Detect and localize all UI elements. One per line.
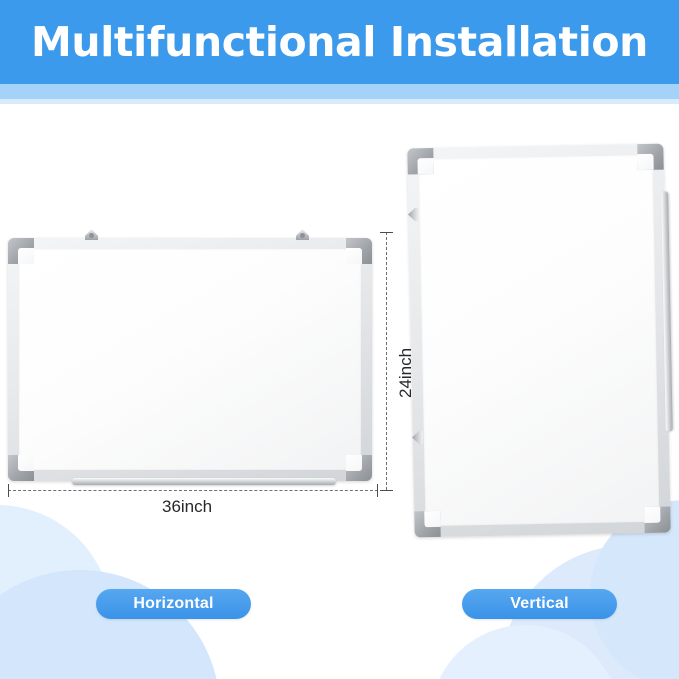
board-writing-surface-horizontal [19,249,361,470]
corner-cap-top-right [637,144,663,170]
caption-pill-horizontal[interactable]: Horizontal [96,589,251,619]
dimension-cap-right [377,484,378,497]
marker-tray-horizontal [72,478,336,485]
caption-label-horizontal: Horizontal [133,595,213,613]
header-accent-strip [0,84,679,99]
dimension-line-height [386,232,387,490]
whiteboard-horizontal [8,238,372,481]
board-writing-surface-vertical [418,155,659,526]
product-infographic: Multifunctional Installation 36inch 24i [0,0,679,679]
header-banner: Multifunctional Installation [0,0,679,84]
caption-pill-vertical[interactable]: Vertical [462,589,617,619]
corner-cap-top-left [407,148,433,174]
corner-cap-top-right [346,238,372,264]
dimension-cap-left [8,484,9,497]
caption-label-vertical: Vertical [510,595,569,613]
decorative-circle [0,505,112,679]
corner-cap-bottom-left [414,511,440,537]
dimension-cap-top [380,232,393,233]
corner-cap-top-left [8,238,34,264]
decorative-circle [0,570,220,679]
whiteboard-vertical [407,144,670,538]
corner-cap-bottom-left [8,455,34,481]
page-title: Multifunctional Installation [31,22,648,63]
corner-cap-bottom-right [346,455,372,481]
dimension-label-width: 36inch [162,497,212,517]
dimension-line-width [8,490,378,491]
hanging-hook-icon [296,229,309,240]
header-accent-strip-secondary [0,99,679,104]
dimension-cap-bottom [380,490,393,491]
hanging-hook-icon [85,229,98,240]
corner-cap-bottom-right [644,507,670,533]
decorative-circle [430,625,620,679]
